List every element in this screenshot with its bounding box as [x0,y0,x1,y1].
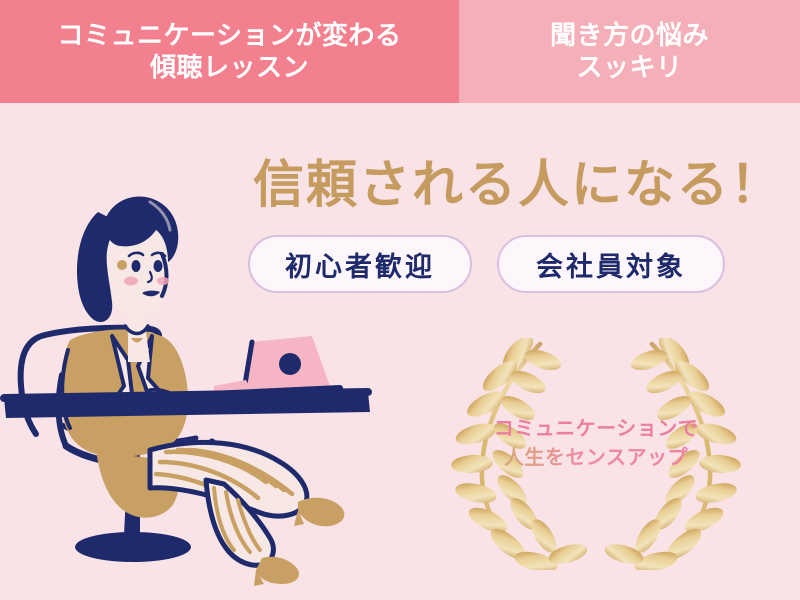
header-left-line-2: 傾聴レッスン [150,52,309,84]
header-left-line-1: コミュニケーションが変わる [58,20,402,52]
header-right-line-1: 聞き方の悩み [550,20,709,52]
wreath-tagline-line-1: コミュニケーションで [460,415,732,444]
header-right-panel: 聞き方の悩み スッキリ [459,0,800,103]
header-left-panel: コミュニケーションが変わる 傾聴レッスン [0,0,459,103]
promo-banner: コミュニケーションが変わる 傾聴レッスン 聞き方の悩み スッキリ [0,0,800,600]
page-title: 信頼される人になる！ [248,143,788,217]
wreath-tagline: コミュニケーションで 人生をセンスアップ [460,415,732,473]
badge-beginners-welcome: 初心者歓迎 [248,235,472,293]
header-ribbon: コミュニケーションが変わる 傾聴レッスン 聞き方の悩み スッキリ [0,0,800,103]
header-right-line-2: スッキリ [576,52,682,84]
wreath-tagline-line-2: 人生をセンスアップ [460,444,732,473]
woman-at-desk-with-laptop-illustration [0,150,400,600]
badge-for-office-workers: 会社員対象 [497,235,725,293]
